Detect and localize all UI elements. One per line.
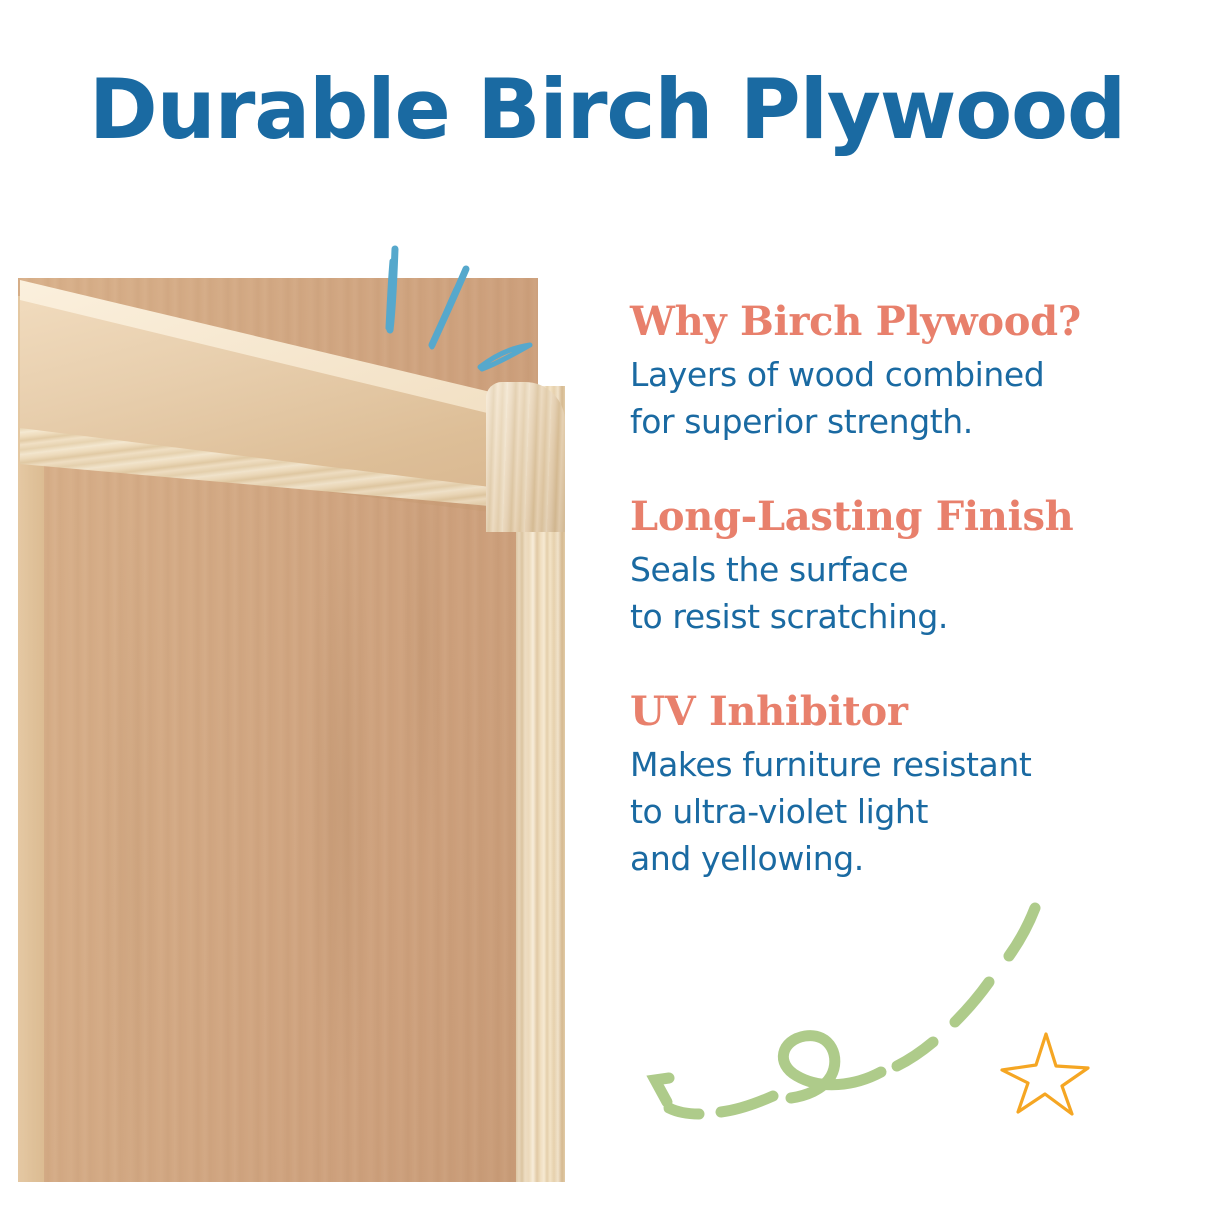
feature-item: UV Inhibitor Makes furniture resistant t…	[630, 686, 1130, 882]
feature-body: Layers of wood combined for superior str…	[630, 351, 1130, 445]
feature-body-line: Makes furniture resistant	[630, 741, 1130, 788]
star-icon	[1000, 1028, 1090, 1118]
feature-body: Makes furniture resistant to ultra-viole…	[630, 741, 1130, 882]
feature-body-line: to ultra-violet light	[630, 788, 1130, 835]
feature-item: Why Birch Plywood? Layers of wood combin…	[630, 296, 1130, 445]
feature-heading: UV Inhibitor	[630, 686, 1130, 738]
feature-heading: Long-Lasting Finish	[630, 491, 1130, 543]
curved-arrow-icon	[645, 890, 1065, 1130]
product-photo	[18, 278, 565, 1182]
feature-body: Seals the surface to resist scratching.	[630, 546, 1130, 640]
feature-body-line: Seals the surface	[630, 546, 1130, 593]
feature-body-line: Layers of wood combined	[630, 351, 1130, 398]
feature-list: Why Birch Plywood? Layers of wood combin…	[630, 296, 1130, 882]
infographic-canvas: Durable Birch Plywood Why Birch Plywood?…	[0, 0, 1214, 1214]
page-title: Durable Birch Plywood	[0, 62, 1214, 158]
feature-item: Long-Lasting Finish Seals the surface to…	[630, 491, 1130, 640]
feature-heading: Why Birch Plywood?	[630, 296, 1130, 348]
feature-body-line: and yellowing.	[630, 835, 1130, 882]
wood-rounded-corner	[486, 382, 565, 532]
feature-body-line: to resist scratching.	[630, 593, 1130, 640]
feature-body-line: for superior strength.	[630, 398, 1130, 445]
